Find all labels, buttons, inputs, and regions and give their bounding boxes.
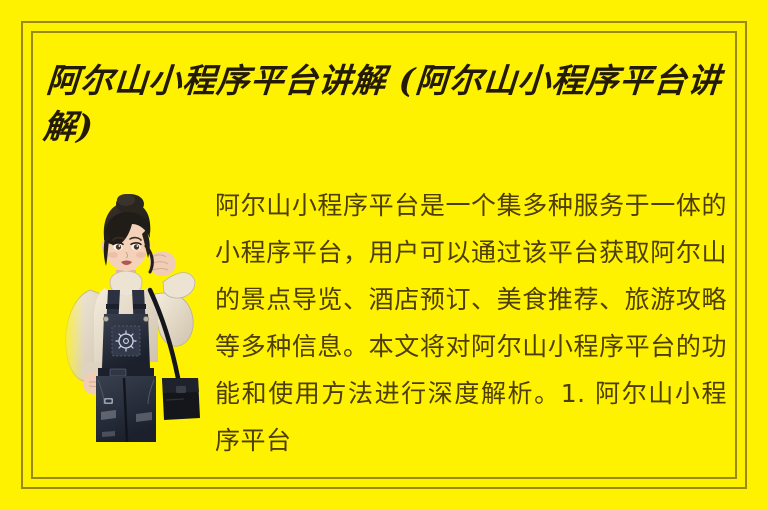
page-title: 阿尔山小程序平台讲解 (阿尔山小程序平台讲解) <box>42 58 728 150</box>
woman-illustration-graphic <box>58 186 210 448</box>
illustration-woman-overalls <box>58 186 210 448</box>
poster-canvas: 阿尔山小程序平台讲解 (阿尔山小程序平台讲解) <box>0 0 768 510</box>
article-body-text: 阿尔山小程序平台是一个集多种服务于一体的小程序平台，用户可以通过该平台获取阿尔山… <box>215 182 727 464</box>
